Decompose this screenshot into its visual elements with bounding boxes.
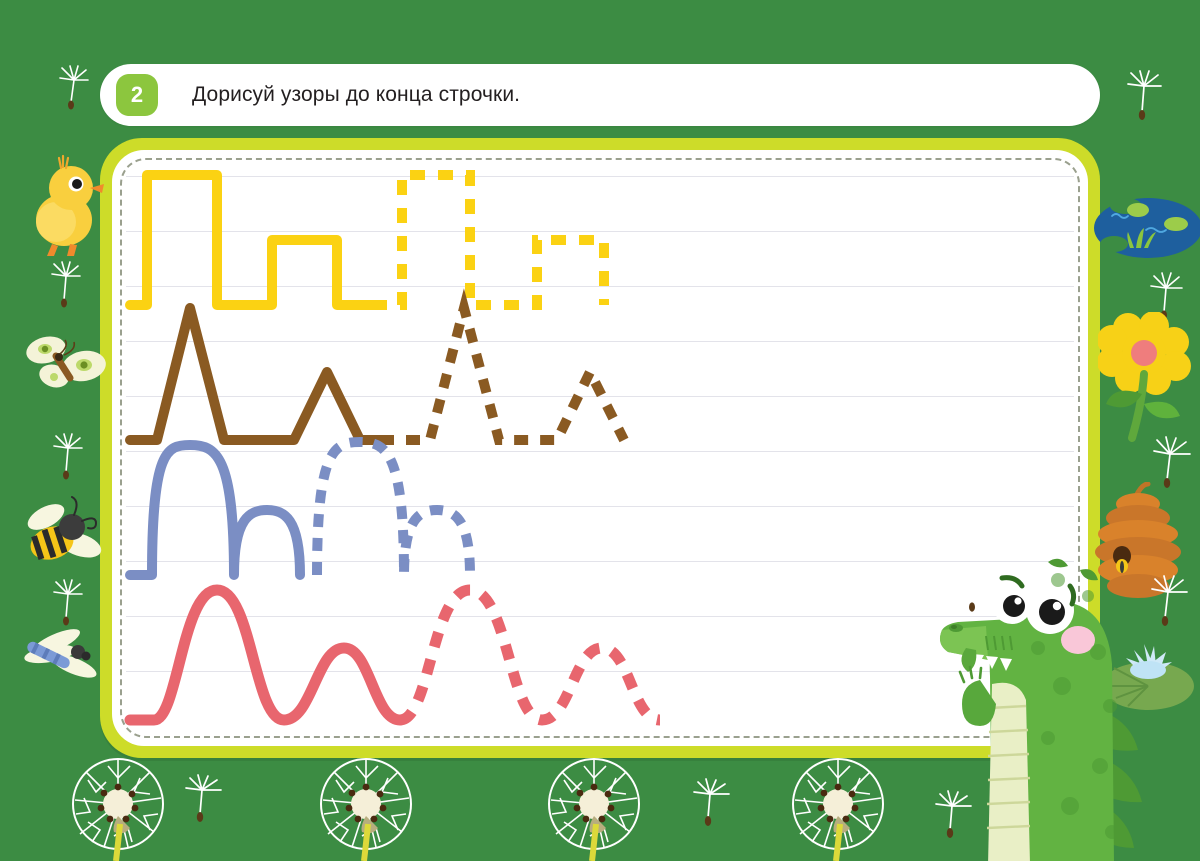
duckling-icon bbox=[26, 152, 106, 262]
dandelion-seed-icon bbox=[48, 430, 88, 486]
dandelion-seed-icon bbox=[1148, 432, 1196, 494]
dandelion-seed-icon bbox=[930, 786, 976, 846]
dandelion-seed-icon bbox=[48, 576, 88, 632]
dandelion-seed-icon bbox=[1122, 66, 1168, 126]
dandelion-puff-icon bbox=[782, 758, 894, 861]
instruction-text: Дорисуй узоры до конца строчки. bbox=[192, 83, 520, 107]
instruction-bar: 2 Дорисуй узоры до конца строчки. bbox=[100, 64, 1100, 126]
arch-row-dashed bbox=[317, 442, 470, 575]
square-wave-row-dashed bbox=[372, 175, 604, 305]
step-number-badge: 2 bbox=[116, 74, 158, 116]
smooth-wave-row-solid bbox=[130, 590, 400, 720]
pond-icon bbox=[1092, 186, 1200, 278]
arch-row-solid bbox=[130, 445, 300, 575]
dandelion-seed-icon bbox=[54, 62, 94, 114]
dandelion-puff-icon bbox=[538, 758, 650, 861]
square-wave-row-solid bbox=[130, 175, 372, 305]
worksheet-card bbox=[100, 138, 1100, 758]
dandelion-seed-icon bbox=[1144, 268, 1188, 326]
butterfly-icon bbox=[24, 330, 108, 402]
dandelion-seed-icon bbox=[180, 770, 226, 830]
dragonfly-icon bbox=[16, 620, 102, 696]
tracing-patterns bbox=[112, 150, 1088, 746]
dandelion-puff-icon bbox=[310, 758, 422, 861]
dandelion-seed-icon bbox=[1146, 570, 1192, 632]
dandelion-seed-icon bbox=[46, 258, 86, 314]
dandelion-puff-icon bbox=[62, 758, 174, 861]
dandelion-seed-icon bbox=[688, 774, 734, 834]
bee-icon bbox=[22, 495, 104, 567]
triangle-zigzag-row-solid bbox=[130, 308, 380, 440]
worksheet-page: 2 Дорисуй узоры до конца строчки. bbox=[0, 0, 1200, 861]
beehive-icon bbox=[1092, 482, 1192, 600]
triangle-zigzag-row-dashed bbox=[380, 308, 624, 440]
water-lily-icon bbox=[1096, 628, 1200, 724]
worksheet-paper bbox=[112, 150, 1088, 746]
flower-icon bbox=[1098, 312, 1200, 444]
smooth-wave-row-dashed bbox=[400, 590, 660, 720]
